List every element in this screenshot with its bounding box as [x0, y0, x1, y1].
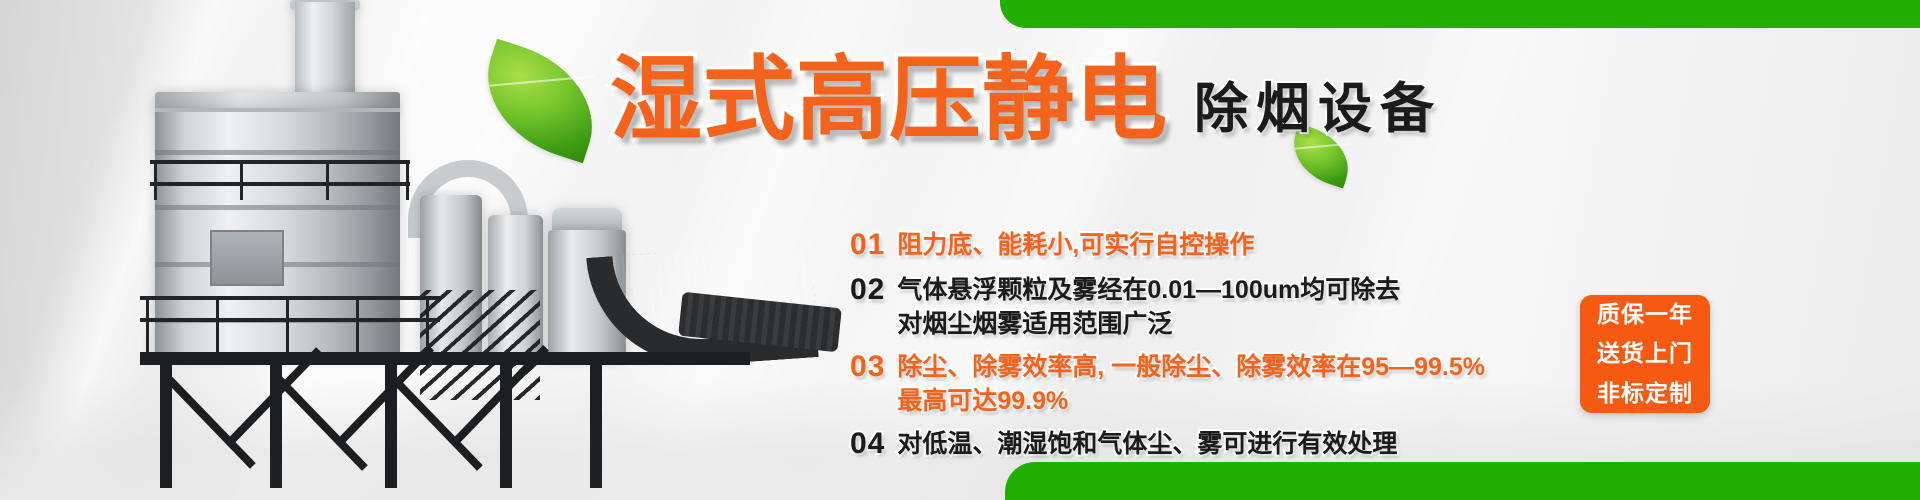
feature-item-01: 01 阻力底、能耗小,可实行自控操作 [850, 228, 1590, 263]
headline-main-title: 湿式高压静电 [610, 52, 1168, 149]
feature-text: 阻力底、能耗小,可实行自控操作 [897, 228, 1254, 263]
feature-text-line: 对低温、潮湿饱和气体尘、雾可进行有效处理 [897, 427, 1397, 462]
railing-post [406, 160, 409, 200]
railing-post [216, 296, 219, 354]
headline-subtitle: 除烟设备 [1194, 64, 1442, 143]
feature-text-line: 除尘、除雾效率高, 一般除尘、除雾效率在95—99.5% [897, 350, 1485, 385]
badge-line-custom: 非标定制 [1597, 374, 1693, 413]
railing-post [326, 160, 329, 200]
feature-item-04: 04 对低温、潮湿饱和气体尘、雾可进行有效处理 [850, 427, 1590, 462]
headline: 湿式高压静电 除烟设备 [610, 52, 1442, 149]
platform-railing [140, 296, 440, 300]
feature-text-line: 对烟尘烟雾适用范围广泛 [897, 307, 1400, 342]
railing-post [240, 160, 243, 200]
feature-text-line: 最高可达99.9% [897, 384, 1485, 419]
railing-post [356, 296, 359, 354]
platform-railing [140, 318, 440, 322]
feature-text: 除尘、除雾效率高, 一般除尘、除雾效率在95—99.5% 最高可达99.9% [897, 350, 1485, 419]
railing-post [286, 296, 289, 354]
upper-railing [150, 160, 410, 164]
feature-item-02: 02 气体悬浮颗粒及雾经在0.01—100um均可除去 对烟尘烟雾适用范围广泛 [850, 273, 1590, 342]
feature-number: 02 [850, 273, 885, 308]
upper-railing [150, 182, 410, 186]
feature-item-03: 03 除尘、除雾效率高, 一般除尘、除雾效率在95—99.5% 最高可达99.9… [850, 350, 1590, 419]
tower-band [155, 150, 400, 155]
support-leg [590, 363, 602, 488]
feature-text: 对低温、潮湿饱和气体尘、雾可进行有效处理 [897, 427, 1397, 462]
promotional-banner: 湿式高压静电 除烟设备 01 阻力底、能耗小,可实行自控操作 02 气体悬浮颗粒… [0, 0, 1920, 500]
feature-number: 01 [850, 228, 885, 263]
feature-text-line: 阻力底、能耗小,可实行自控操作 [897, 228, 1254, 263]
feature-text-line: 气体悬浮颗粒及雾经在0.01—100um均可除去 [897, 273, 1400, 308]
support-platform [140, 352, 750, 365]
feature-number: 03 [850, 350, 885, 385]
feature-list: 01 阻力底、能耗小,可实行自控操作 02 气体悬浮颗粒及雾经在0.01—100… [850, 228, 1590, 469]
railing-post [146, 296, 149, 354]
service-guarantee-badge: 质保一年 送货上门 非标定制 [1580, 295, 1710, 413]
badge-line-warranty: 质保一年 [1597, 295, 1693, 334]
support-brace [163, 373, 256, 468]
tower-access-panel [210, 230, 284, 286]
feature-text: 气体悬浮颗粒及雾经在0.01—100um均可除去 对烟尘烟雾适用范围广泛 [897, 273, 1400, 342]
tower-band [155, 205, 400, 210]
access-stairs [420, 290, 540, 400]
badge-line-delivery: 送货上门 [1597, 334, 1693, 373]
railing-post [154, 160, 157, 200]
feature-number: 04 [850, 427, 885, 462]
green-accent-bar-top [1000, 0, 1920, 28]
